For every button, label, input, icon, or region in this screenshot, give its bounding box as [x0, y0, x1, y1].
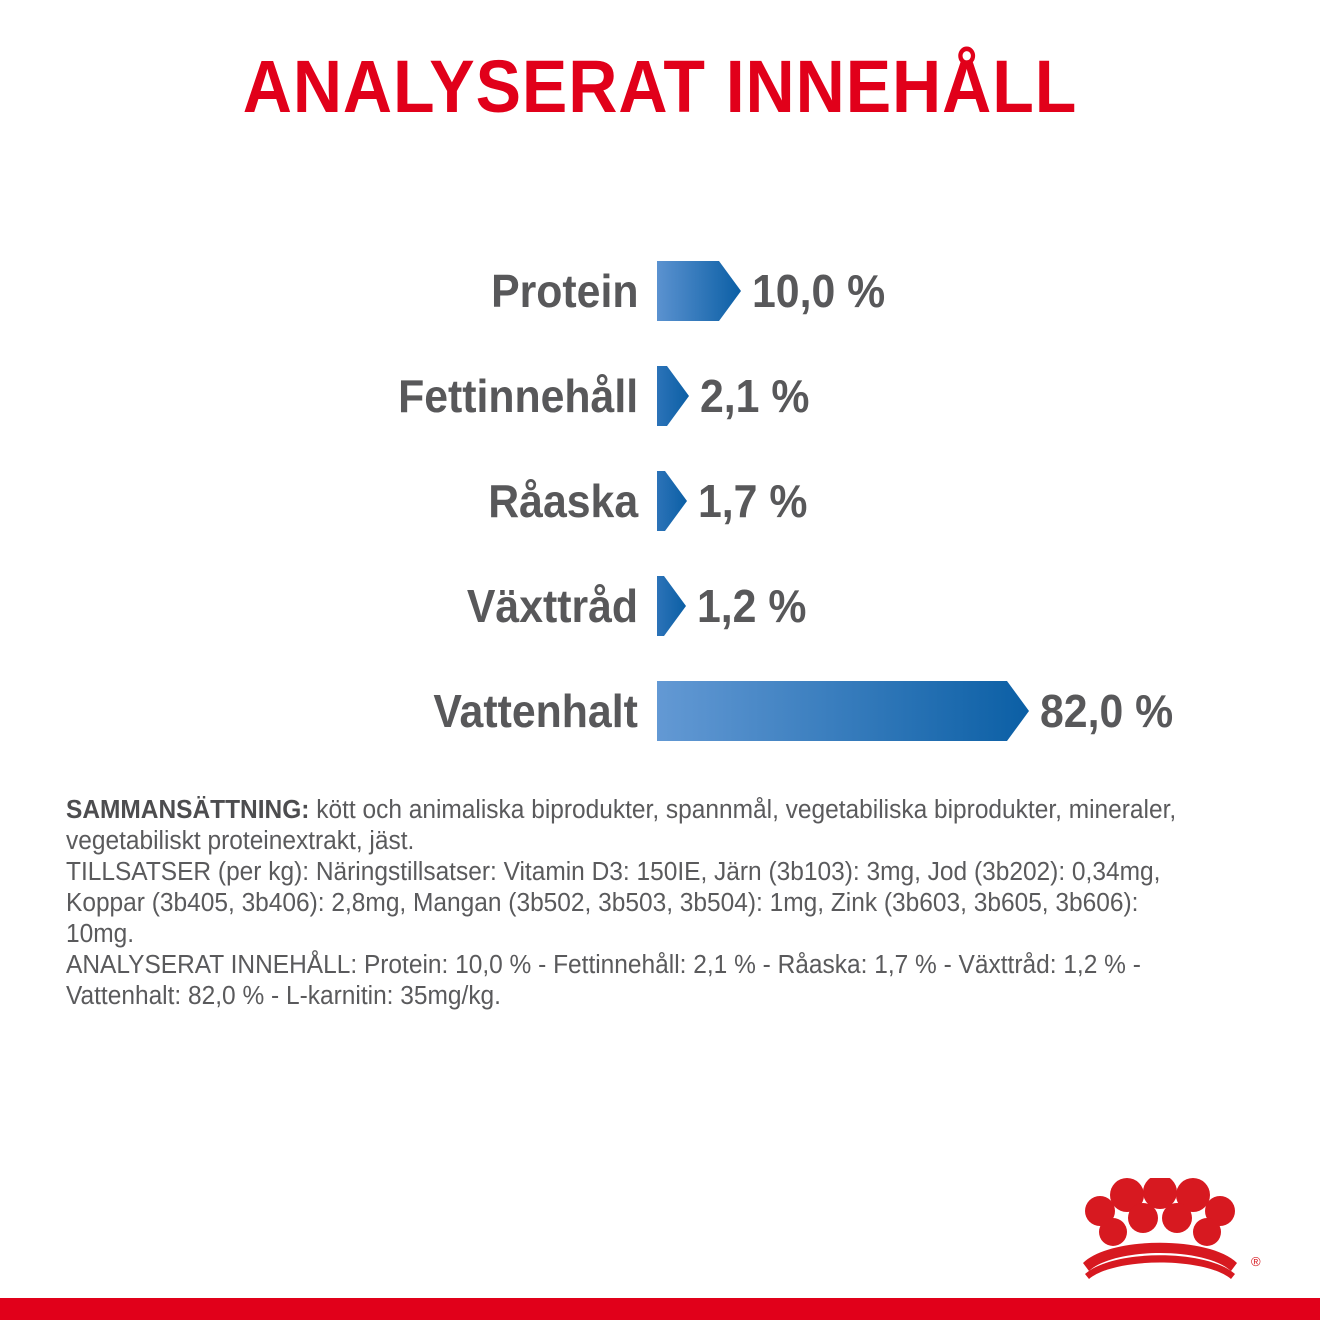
nutrient-label: Växttråd: [467, 580, 638, 632]
bar-arrow-icon: [657, 366, 689, 426]
composition-text-block: SAMMANSÄTTNING: kött och animaliska bipr…: [66, 795, 1191, 1012]
registered-trademark-symbol: ®: [1251, 1254, 1261, 1269]
bar-arrow-icon: [657, 681, 1029, 741]
bottom-red-bar: [0, 1298, 1320, 1320]
nutrient-value: 82,0 %: [1040, 685, 1173, 737]
nutrient-row: Fettinnehåll 2,1 %: [0, 343, 1320, 448]
crown-icon: ®: [1055, 1178, 1265, 1283]
nutrition-panel: ANALYSERAT INNEHÅLL Protein 10,0 %: [0, 0, 1320, 1320]
nutrient-bar: [657, 366, 689, 426]
composition-line-1: SAMMANSÄTTNING: kött och animaliska bipr…: [66, 795, 1191, 857]
bar-arrow-icon: [657, 261, 741, 321]
nutrient-value: 1,7 %: [698, 475, 807, 527]
nutrient-label: Råaska: [488, 475, 638, 527]
bar-arrow-icon: [657, 471, 687, 531]
bar-arrow-icon: [657, 576, 686, 636]
page-title: ANALYSERAT INNEHÅLL: [53, 44, 1267, 130]
nutrient-bar: [657, 681, 1029, 741]
royal-canin-crown-logo: ®: [1055, 1178, 1265, 1283]
nutrient-row: Vattenhalt 82,0 %: [0, 658, 1320, 763]
nutrient-bar: [657, 261, 741, 321]
analysed-constituents-chart: Protein 10,0 % Fettinnehåll: [0, 238, 1320, 763]
nutrient-bar: [657, 576, 686, 636]
nutrient-row: Protein 10,0 %: [0, 238, 1320, 343]
analysed-constituents-line: ANALYSERAT INNEHÅLL: Protein: 10,0 % - F…: [66, 950, 1191, 1012]
nutrient-label: Protein: [491, 265, 638, 317]
nutrient-value: 10,0 %: [752, 265, 885, 317]
nutrient-bar: [657, 471, 687, 531]
composition-heading: SAMMANSÄTTNING:: [66, 796, 309, 824]
nutrient-label: Fettinnehåll: [398, 370, 638, 422]
nutrient-label: Vattenhalt: [434, 685, 638, 737]
additives-line: TILLSATSER (per kg): Näringstillsatser: …: [66, 857, 1191, 950]
nutrient-row: Växttråd 1,2 %: [0, 553, 1320, 658]
nutrient-row: Råaska 1,7 %: [0, 448, 1320, 553]
nutrient-value: 1,2 %: [697, 580, 806, 632]
nutrient-value: 2,1 %: [700, 370, 809, 422]
